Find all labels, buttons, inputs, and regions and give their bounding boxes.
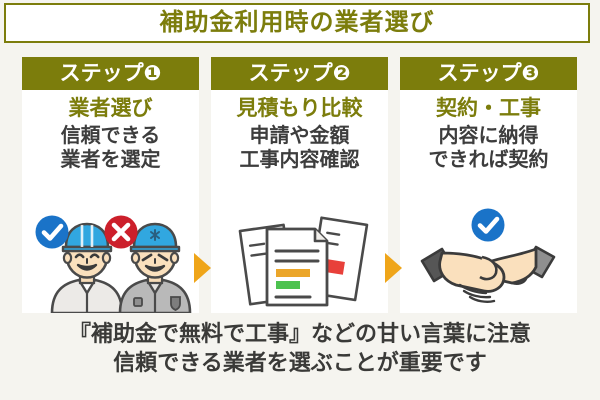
step-3-line-2: できれば契約 bbox=[400, 148, 577, 172]
page-title-box: 補助金利用時の業者選び bbox=[4, 3, 590, 43]
cross-badge-icon bbox=[105, 216, 138, 249]
step-1-title: 業者選び bbox=[22, 97, 199, 122]
documents-stack-icon bbox=[211, 205, 388, 313]
handshake-icon bbox=[400, 205, 577, 313]
step-card-2: ステップ❷ 見積もり比較 申請や金額 工事内容確認 bbox=[211, 57, 388, 313]
step-2-badge-label: ステップ❷ bbox=[249, 63, 351, 84]
step-2-body: 見積もり比較 申請や金額 工事内容確認 bbox=[211, 90, 388, 172]
arrow-step1-to-step2 bbox=[194, 253, 211, 283]
two-workers-icon bbox=[22, 205, 199, 313]
step-2-title: 見積もり比較 bbox=[211, 97, 388, 122]
step-3-body: 契約・工事 内容に納得 できれば契約 bbox=[400, 90, 577, 172]
step-1-badge: ステップ❶ bbox=[22, 57, 199, 90]
step-card-3: ステップ❸ 契約・工事 内容に納得 できれば契約 bbox=[400, 57, 577, 313]
step-3-badge: ステップ❸ bbox=[400, 57, 577, 90]
step-2-line-1: 申請や金額 bbox=[211, 124, 388, 148]
step-card-1: ステップ❶ 業者選び 信頼できる 業者を選定 bbox=[22, 57, 199, 313]
step-1-badge-label: ステップ❶ bbox=[60, 63, 162, 84]
check-badge-icon bbox=[36, 216, 69, 249]
step-3-title: 契約・工事 bbox=[400, 97, 577, 122]
step-2-badge: ステップ❷ bbox=[211, 57, 388, 90]
arrow-step2-to-step3 bbox=[385, 253, 402, 283]
step-3-description: 内容に納得 できれば契約 bbox=[400, 124, 577, 172]
step-3-badge-label: ステップ❸ bbox=[438, 63, 540, 84]
step-2-description: 申請や金額 工事内容確認 bbox=[211, 124, 388, 172]
step-1-body: 業者選び 信頼できる 業者を選定 bbox=[22, 90, 199, 172]
step-1-description: 信頼できる 業者を選定 bbox=[22, 124, 199, 172]
check-badge-icon bbox=[472, 209, 505, 242]
footer-line-1: 『補助金で無料で工事』などの甘い言葉に注意 bbox=[0, 320, 600, 349]
footer-line-2: 信頼できる業者を選ぶことが重要です bbox=[0, 349, 600, 378]
steps-container: ステップ❶ 業者選び 信頼できる 業者を選定 bbox=[0, 57, 600, 315]
step-3-line-1: 内容に納得 bbox=[400, 124, 577, 148]
step-1-line-1: 信頼できる bbox=[22, 124, 199, 148]
infographic-root: 補助金利用時の業者選び ステップ❶ 業者選び 信頼できる 業者を選定 bbox=[0, 0, 600, 400]
step-1-line-2: 業者を選定 bbox=[22, 148, 199, 172]
footer-note: 『補助金で無料で工事』などの甘い言葉に注意 信頼できる業者を選ぶことが重要です bbox=[0, 320, 600, 377]
step-2-line-2: 工事内容確認 bbox=[211, 148, 388, 172]
page-title: 補助金利用時の業者選び bbox=[160, 11, 435, 35]
